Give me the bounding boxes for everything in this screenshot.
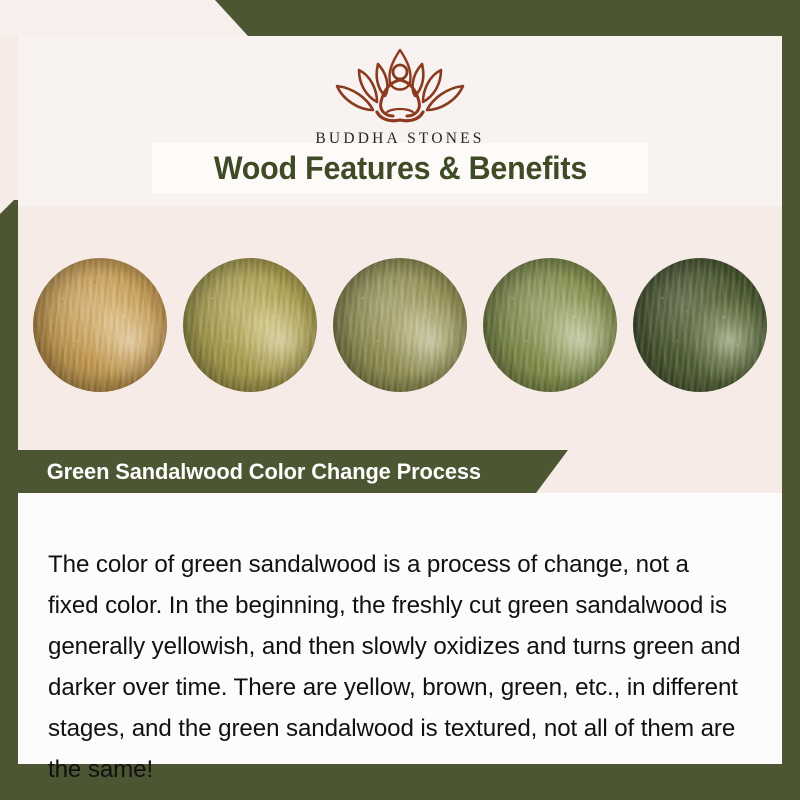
bead-stage-3 bbox=[333, 258, 467, 392]
page-title: Wood Features & Benefits bbox=[213, 150, 586, 187]
bead-shading-layer bbox=[633, 258, 767, 392]
section-banner-label: Green Sandalwood Color Change Process bbox=[47, 459, 481, 485]
bead-stage-1 bbox=[33, 258, 167, 392]
page-title-box: Wood Features & Benefits bbox=[152, 143, 648, 193]
bead-stage-4 bbox=[483, 258, 617, 392]
bead-gallery bbox=[18, 250, 782, 400]
section-banner: Green Sandalwood Color Change Process bbox=[18, 450, 568, 493]
poster-root: BUDDHA STONES Wood Features & Benefits bbox=[0, 0, 800, 800]
bead-shading-layer bbox=[333, 258, 467, 392]
body-paragraph: The color of green sandalwood is a proce… bbox=[48, 544, 741, 790]
body-panel: The color of green sandalwood is a proce… bbox=[18, 493, 782, 764]
bead-shading-layer bbox=[33, 258, 167, 392]
lotus-meditation-figure-icon bbox=[315, 42, 485, 128]
frame-left-green-bar bbox=[0, 200, 18, 764]
frame-right-green-bar bbox=[782, 36, 800, 764]
bead-shading-layer bbox=[183, 258, 317, 392]
bead-stage-5 bbox=[633, 258, 767, 392]
bead-shading-layer bbox=[483, 258, 617, 392]
upper-left-cream-block bbox=[0, 36, 18, 204]
bead-stage-2 bbox=[183, 258, 317, 392]
